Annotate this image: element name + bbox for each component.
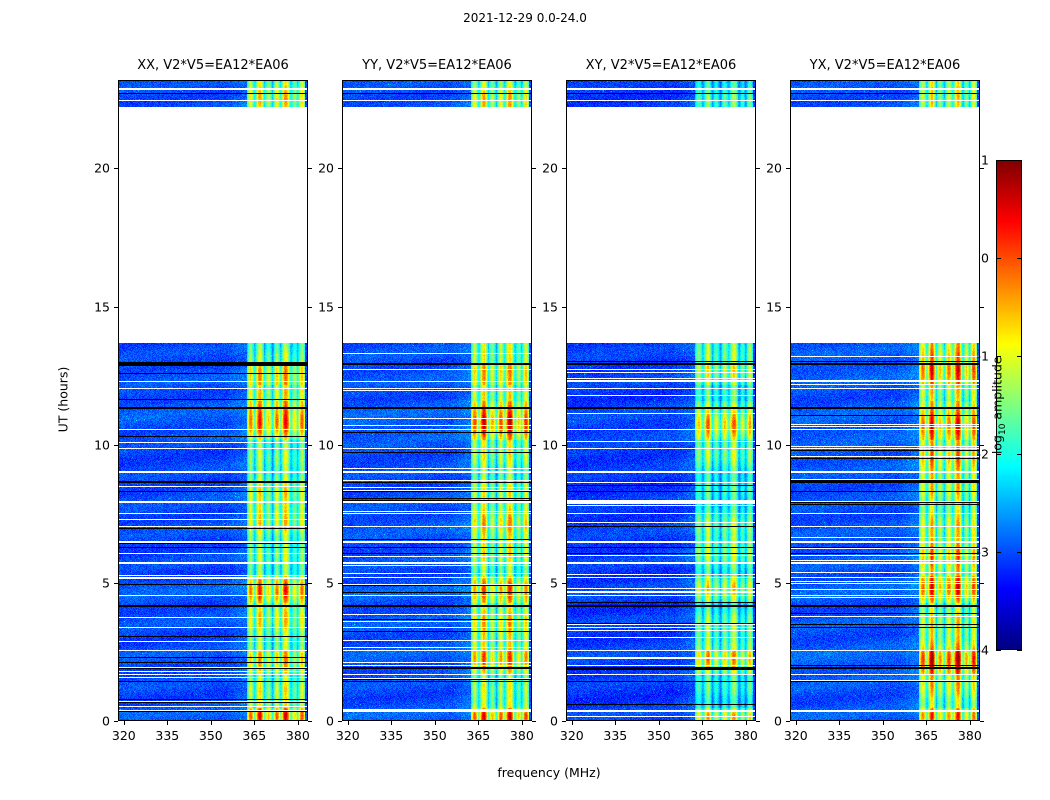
y-tick-right-yy-2 <box>532 445 536 446</box>
x-tick-label-yx-4: 380 <box>958 728 982 743</box>
panel-title-xy: XY, V2*V5=EA12*EA06 <box>566 58 756 73</box>
colorbar-tick-label-0: -4 <box>977 643 989 658</box>
x-tick-label-xx-1: 335 <box>155 728 179 743</box>
panel-title-xx: XX, V2*V5=EA12*EA06 <box>118 58 308 73</box>
y-tick-right-xx-2 <box>308 445 312 446</box>
y-tick-yy-0 <box>338 721 342 722</box>
x-tick-xy-1 <box>615 721 616 725</box>
x-tick-label-xy-3: 365 <box>690 728 714 743</box>
waterfall-image-yx <box>791 81 980 721</box>
x-tick-yy-3 <box>478 721 479 725</box>
y-tick-yx-4 <box>786 168 790 169</box>
x-tick-yy-4 <box>522 721 523 725</box>
colorbar-tick-4 <box>996 258 1001 259</box>
x-tick-label-yx-1: 335 <box>827 728 851 743</box>
y-tick-label-xx-2: 10 <box>94 437 110 452</box>
x-tick-xx-0 <box>124 721 125 725</box>
x-tick-label-yx-0: 320 <box>784 728 808 743</box>
y-tick-right-xx-3 <box>308 307 312 308</box>
x-tick-label-yx-3: 365 <box>914 728 938 743</box>
x-tick-xx-2 <box>211 721 212 725</box>
x-tick-label-xx-2: 350 <box>199 728 223 743</box>
panel-title-yy: YY, V2*V5=EA12*EA06 <box>342 58 532 73</box>
y-tick-right-yy-4 <box>532 168 536 169</box>
colorbar-tick-right-2 <box>1017 454 1022 455</box>
y-tick-label-yy-0: 0 <box>326 714 334 729</box>
panel-axes-xx <box>118 80 308 721</box>
y-tick-label-yx-3: 15 <box>766 299 782 314</box>
colorbar-tick-label-2: -2 <box>977 447 989 462</box>
colorbar-tick-right-3 <box>1017 356 1022 357</box>
y-tick-xy-0 <box>562 721 566 722</box>
y-tick-label-xy-1: 5 <box>550 575 558 590</box>
x-tick-yy-1 <box>391 721 392 725</box>
y-tick-label-xx-3: 15 <box>94 299 110 314</box>
x-tick-label-xx-3: 365 <box>242 728 266 743</box>
x-tick-yy-2 <box>435 721 436 725</box>
waterfall-panel-yy[interactable]: YY, V2*V5=EA12*EA06320335350365380051015… <box>342 80 532 721</box>
y-tick-right-xy-0 <box>756 721 760 722</box>
waterfall-panel-yx[interactable]: YX, V2*V5=EA12*EA06320335350365380051015… <box>790 80 980 721</box>
x-tick-label-yy-2: 350 <box>423 728 447 743</box>
y-tick-right-xx-1 <box>308 583 312 584</box>
x-tick-label-xx-4: 380 <box>286 728 310 743</box>
colorbar-tick-label-1: -3 <box>977 545 989 560</box>
y-tick-yy-1 <box>338 583 342 584</box>
y-tick-xx-1 <box>114 583 118 584</box>
panel-title-yx: YX, V2*V5=EA12*EA06 <box>790 58 980 73</box>
y-tick-xx-4 <box>114 168 118 169</box>
y-tick-right-yx-0 <box>980 721 984 722</box>
x-tick-xx-1 <box>167 721 168 725</box>
y-tick-yx-3 <box>786 307 790 308</box>
y-tick-label-xx-4: 20 <box>94 161 110 176</box>
x-tick-label-yx-2: 350 <box>871 728 895 743</box>
panel-axes-yx <box>790 80 980 721</box>
x-tick-yx-3 <box>926 721 927 725</box>
x-tick-label-yy-1: 335 <box>379 728 403 743</box>
y-tick-yx-0 <box>786 721 790 722</box>
y-tick-label-xy-2: 10 <box>542 437 558 452</box>
y-tick-label-yx-4: 20 <box>766 161 782 176</box>
colorbar-label-suffix: amplitude <box>990 356 1005 423</box>
y-tick-label-xy-4: 20 <box>542 161 558 176</box>
y-tick-yx-1 <box>786 583 790 584</box>
colorbar-tick-1 <box>996 552 1001 553</box>
x-tick-yx-0 <box>796 721 797 725</box>
y-tick-xy-1 <box>562 583 566 584</box>
x-axis-label: frequency (MHz) <box>118 765 980 780</box>
x-tick-xx-3 <box>254 721 255 725</box>
colorbar-label-prefix: log <box>990 435 1005 454</box>
y-tick-label-yx-0: 0 <box>774 714 782 729</box>
y-tick-right-xx-0 <box>308 721 312 722</box>
x-tick-xy-4 <box>746 721 747 725</box>
waterfall-panel-xx[interactable]: XX, V2*V5=EA12*EA06320335350365380051015… <box>118 80 308 721</box>
waterfall-image-yy <box>343 81 532 721</box>
colorbar-tick-right-1 <box>1017 552 1022 553</box>
colorbar-tick-label-5: 1 <box>981 153 989 168</box>
colorbar-tick-5 <box>996 160 1001 161</box>
panel-axes-xy <box>566 80 756 721</box>
x-tick-label-xy-0: 320 <box>560 728 584 743</box>
x-tick-label-xy-4: 380 <box>734 728 758 743</box>
x-tick-label-xx-0: 320 <box>112 728 136 743</box>
y-tick-xx-2 <box>114 445 118 446</box>
colorbar-tick-right-0 <box>1017 650 1022 651</box>
y-tick-label-yy-4: 20 <box>318 161 334 176</box>
y-tick-right-yx-1 <box>980 583 984 584</box>
y-tick-right-yx-3 <box>980 307 984 308</box>
y-tick-xx-0 <box>114 721 118 722</box>
x-tick-yx-1 <box>839 721 840 725</box>
figure-suptitle: 2021-12-29 0.0-24.0 <box>0 11 1050 25</box>
x-tick-xy-0 <box>572 721 573 725</box>
y-tick-right-yx-4 <box>980 168 984 169</box>
x-tick-label-xy-2: 350 <box>647 728 671 743</box>
y-tick-label-xy-0: 0 <box>550 714 558 729</box>
waterfall-panel-xy[interactable]: XY, V2*V5=EA12*EA06320335350365380051015… <box>566 80 756 721</box>
y-tick-label-xx-1: 5 <box>102 575 110 590</box>
y-axis-label: UT (hours) <box>55 366 70 432</box>
y-tick-label-yy-2: 10 <box>318 437 334 452</box>
x-tick-yx-4 <box>970 721 971 725</box>
panel-axes-yy <box>342 80 532 721</box>
colorbar-label-subscript: 10 <box>998 424 1008 435</box>
y-tick-right-xy-2 <box>756 445 760 446</box>
colorbar-tick-right-5 <box>1017 160 1022 161</box>
y-tick-label-xy-3: 15 <box>542 299 558 314</box>
waterfall-image-xy <box>567 81 756 721</box>
y-tick-label-yy-3: 15 <box>318 299 334 314</box>
y-tick-right-xy-1 <box>756 583 760 584</box>
y-tick-xy-3 <box>562 307 566 308</box>
colorbar-label: log10 amplitude <box>990 356 1009 454</box>
y-tick-xx-3 <box>114 307 118 308</box>
x-tick-label-yy-0: 320 <box>336 728 360 743</box>
y-tick-label-yx-2: 10 <box>766 437 782 452</box>
colorbar-tick-right-4 <box>1017 258 1022 259</box>
y-tick-yy-3 <box>338 307 342 308</box>
y-tick-right-xy-3 <box>756 307 760 308</box>
x-tick-label-yy-3: 365 <box>466 728 490 743</box>
y-tick-xy-4 <box>562 168 566 169</box>
y-tick-right-xx-4 <box>308 168 312 169</box>
y-tick-yy-2 <box>338 445 342 446</box>
y-tick-right-yy-1 <box>532 583 536 584</box>
y-tick-right-yy-3 <box>532 307 536 308</box>
y-tick-label-yy-1: 5 <box>326 575 334 590</box>
x-tick-xy-3 <box>702 721 703 725</box>
x-tick-yx-2 <box>883 721 884 725</box>
y-tick-label-xx-0: 0 <box>102 714 110 729</box>
colorbar-tick-label-4: 0 <box>981 251 989 266</box>
x-tick-xx-4 <box>298 721 299 725</box>
y-tick-yy-4 <box>338 168 342 169</box>
colorbar-tick-0 <box>996 650 1001 651</box>
x-tick-yy-0 <box>348 721 349 725</box>
y-tick-yx-2 <box>786 445 790 446</box>
waterfall-image-xx <box>119 81 308 721</box>
figure-canvas: 2021-12-29 0.0-24.0 XX, V2*V5=EA12*EA063… <box>0 0 1050 800</box>
colorbar-tick-label-3: -1 <box>977 349 989 364</box>
y-tick-right-xy-4 <box>756 168 760 169</box>
y-tick-label-yx-1: 5 <box>774 575 782 590</box>
colorbar-tick-2 <box>996 454 1001 455</box>
y-tick-xy-2 <box>562 445 566 446</box>
y-tick-right-yy-0 <box>532 721 536 722</box>
x-tick-xy-2 <box>659 721 660 725</box>
x-tick-label-yy-4: 380 <box>510 728 534 743</box>
x-tick-label-xy-1: 335 <box>603 728 627 743</box>
